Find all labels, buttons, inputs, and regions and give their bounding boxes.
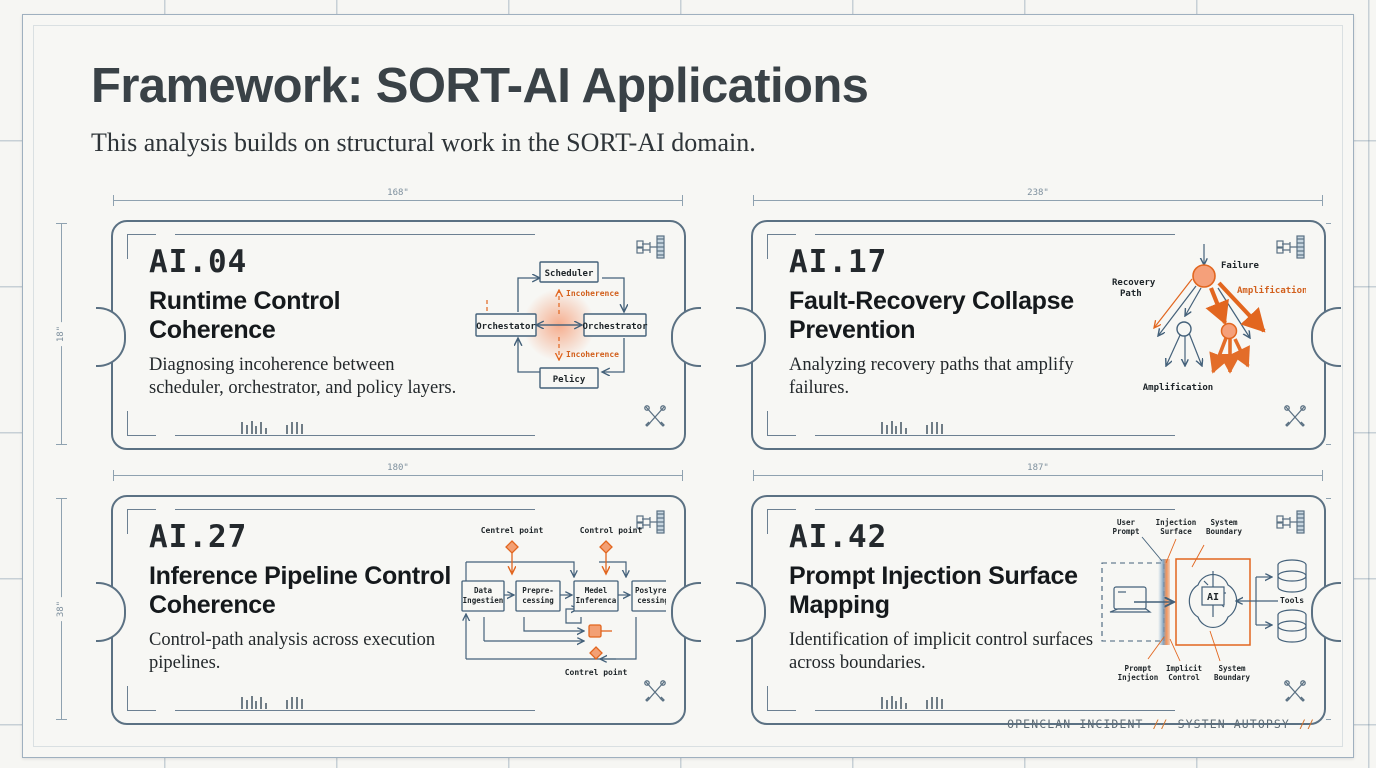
fault-recovery-tree-diagram: Failure Recovery Path Amplification Ampl… (1096, 238, 1306, 413)
viz-control-point: Control point (580, 525, 643, 535)
barcode-mark (239, 420, 329, 436)
card-title: Prompt Injection Surface Mapping (789, 562, 1099, 620)
svg-text:cessing: cessing (637, 596, 666, 605)
viz-side-label: Tools (1280, 596, 1304, 605)
card-ai-04[interactable]: AI.04 Runtime Control Coherence Diagnosi… (111, 220, 686, 450)
card-title: Fault-Recovery Collapse Prevention (789, 287, 1099, 345)
card-ai-27[interactable]: AI.27 Inference Pipeline Control Coheren… (111, 495, 686, 725)
card-description: Diagnosing incoherence between scheduler… (149, 354, 459, 399)
svg-text:Boundary: Boundary (1214, 673, 1251, 682)
svg-text:Data: Data (474, 586, 493, 595)
svg-text:Ingestien: Ingestien (463, 596, 504, 605)
footer-separator-2: // (1299, 717, 1315, 731)
svg-text:Prepre-: Prepre- (522, 586, 554, 595)
viz-label-failure: Failure (1221, 260, 1260, 271)
svg-text:Implicit: Implicit (1166, 664, 1202, 673)
paper-sheet: Framework: SORT-AI Applications This ana… (22, 14, 1354, 758)
card-title: Runtime Control Coherence (149, 287, 459, 345)
card-description: Identification of implicit control surfa… (789, 629, 1099, 674)
card-code: AI.17 (789, 244, 1099, 280)
barcode-mark (879, 420, 969, 436)
viz-control-point: Centrel point (481, 525, 544, 535)
card-description: Control-path analysis across execution p… (149, 629, 459, 674)
dimension-left-upper: 18" (55, 223, 67, 445)
dimension-label: 168" (382, 188, 414, 198)
svg-text:Prompt: Prompt (1124, 664, 1151, 673)
barcode-mark (239, 695, 329, 711)
viz-node-label: Orchestator (476, 322, 536, 332)
svg-text:Injection: Injection (1118, 673, 1159, 682)
footer-stamp: OPENCLAN INCIDENT // SYSTEN AUTOPSY // (964, 717, 1315, 731)
svg-text:Control: Control (1168, 673, 1200, 682)
svg-text:Medel: Medel (585, 586, 608, 595)
svg-text:System: System (1218, 664, 1246, 673)
footer-rule (964, 723, 998, 725)
svg-text:Injection: Injection (1156, 518, 1197, 527)
viz-label-amplification-bottom: Amplification (1143, 382, 1213, 393)
dimension-top-left: 168" (113, 191, 683, 203)
card-ai-42[interactable]: AI.42 Prompt Injection Surface Mapping I… (751, 495, 1326, 725)
card-text-block: AI.17 Fault-Recovery Collapse Prevention… (789, 244, 1099, 399)
viz-node-label: Orchestrator (582, 322, 648, 332)
prompt-injection-surface-diagram: AI Tools (1086, 515, 1316, 690)
viz-label-recovery: Recovery (1112, 278, 1156, 288)
dimension-label: 238" (1022, 188, 1054, 198)
svg-text:cessing: cessing (522, 596, 554, 605)
footer-separator-1: // (1153, 717, 1169, 731)
svg-text:System: System (1210, 518, 1238, 527)
footer-text-1: OPENCLAN INCIDENT (1007, 717, 1143, 731)
footer-text-2: SYSTEN AUTOPSY (1178, 717, 1290, 731)
viz-core-label: AI (1207, 592, 1219, 603)
page-header: Framework: SORT-AI Applications This ana… (91, 61, 1191, 158)
svg-text:Surface: Surface (1160, 527, 1192, 536)
card-title: Inference Pipeline Control Coherence (149, 562, 459, 620)
svg-text:Poslyre-: Poslyre- (635, 586, 666, 595)
card-description: Analyzing recovery paths that amplify fa… (789, 354, 1099, 399)
card-code: AI.42 (789, 519, 1099, 555)
card-text-block: AI.04 Runtime Control Coherence Diagnosi… (149, 244, 459, 399)
card-code: AI.04 (149, 244, 459, 280)
svg-text:Prompt: Prompt (1112, 527, 1139, 536)
viz-label-recovery-2: Path (1120, 289, 1142, 299)
dimension-left-lower: 38" (55, 498, 67, 720)
card-text-block: AI.42 Prompt Injection Surface Mapping I… (789, 519, 1099, 674)
dimension-label: 18" (56, 322, 66, 346)
card-grid: AI.04 Runtime Control Coherence Diagnosi… (111, 220, 1326, 725)
card-code: AI.27 (149, 519, 459, 555)
page-title: Framework: SORT-AI Applications (91, 61, 1191, 112)
svg-text:Boundary: Boundary (1206, 527, 1243, 536)
viz-annotation: Incoherence (566, 350, 619, 359)
barcode-mark (879, 695, 969, 711)
viz-label-amplification: Amplification (1237, 285, 1306, 296)
page-subtitle: This analysis builds on structural work … (91, 128, 1191, 158)
viz-annotation: Incoherence (566, 289, 619, 298)
dimension-top-right: 238" (753, 191, 1323, 203)
svg-text:User: User (1117, 518, 1136, 527)
inference-pipeline-diagram: DataIngestien Prepre-cessing MedelInfere… (456, 519, 666, 694)
viz-node-label: Scheduler (545, 269, 594, 279)
runtime-control-coherence-diagram: Scheduler Orchestator Orchestrator Pelic… (456, 238, 666, 413)
card-ai-17[interactable]: AI.17 Fault-Recovery Collapse Prevention… (751, 220, 1326, 450)
viz-node-label: Pelicy (553, 374, 586, 385)
viz-control-point: Contrel point (565, 667, 628, 677)
card-text-block: AI.27 Inference Pipeline Control Coheren… (149, 519, 459, 674)
dimension-label: 38" (56, 597, 66, 621)
svg-text:Inferenca: Inferenca (576, 596, 617, 605)
